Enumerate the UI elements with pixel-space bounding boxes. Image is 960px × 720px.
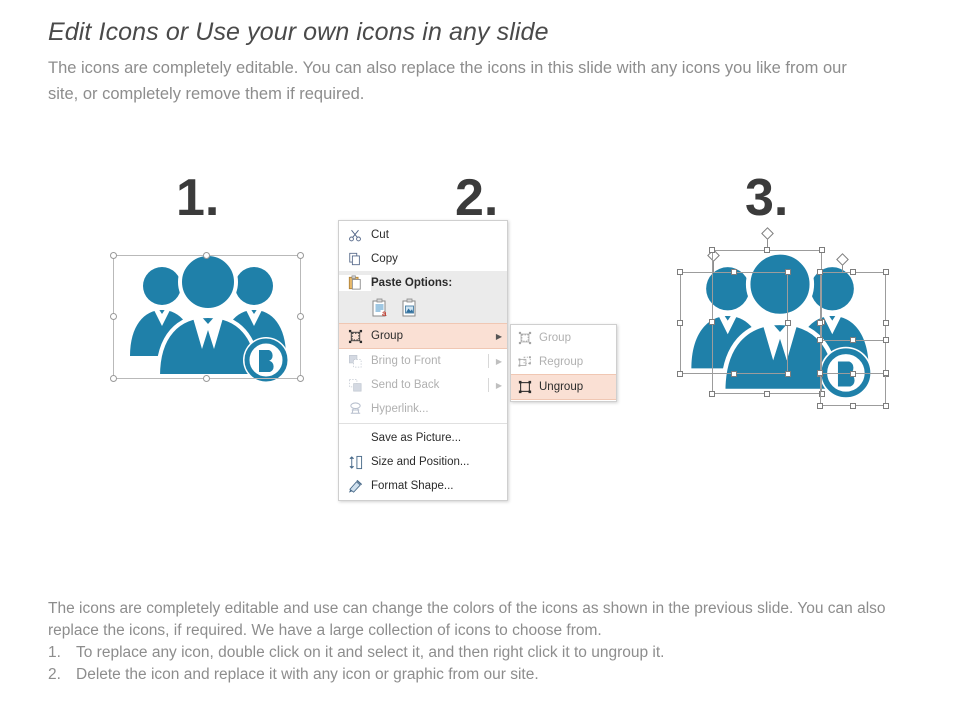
- sub-handle[interactable]: [819, 247, 825, 253]
- footer-list-number: 2.: [48, 664, 76, 686]
- sub-handle[interactable]: [764, 391, 770, 397]
- group-icon: [339, 329, 371, 344]
- submenu-item-label: Regroup: [539, 356, 616, 368]
- sub-handle[interactable]: [817, 337, 823, 343]
- menu-item-format-shape[interactable]: Format Shape...: [339, 474, 507, 498]
- sub-handle[interactable]: [709, 391, 715, 397]
- ungroup-icon: [511, 380, 539, 394]
- sub-handle[interactable]: [785, 320, 791, 326]
- sub-handle[interactable]: [709, 247, 715, 253]
- submenu-item-label: Ungroup: [539, 381, 616, 393]
- sub-handle[interactable]: [883, 403, 889, 409]
- menu-item-label: Cut: [371, 229, 507, 241]
- size-position-icon: [339, 455, 371, 470]
- menu-item-label: Format Shape...: [371, 480, 507, 492]
- selection-handle-nw[interactable]: [110, 252, 117, 259]
- svg-text:a: a: [382, 309, 387, 318]
- menu-item-label: Size and Position...: [371, 456, 507, 468]
- selection-handle-s[interactable]: [203, 375, 210, 382]
- hyperlink-icon: [339, 402, 371, 417]
- menu-item-label: Copy: [371, 253, 507, 265]
- scissors-icon: [339, 228, 371, 242]
- footer-paragraph: The icons are completely editable and us…: [48, 598, 938, 642]
- copy-icon: [339, 252, 371, 266]
- bring-to-front-icon: [339, 354, 371, 369]
- sub-handle[interactable]: [817, 370, 823, 376]
- sub-handle[interactable]: [817, 403, 823, 409]
- menu-item-label: Bring to Front: [371, 355, 491, 367]
- chevron-right-icon: ▶: [491, 357, 507, 366]
- keep-source-formatting-paste-icon[interactable]: a: [371, 298, 389, 321]
- sub-handle[interactable]: [883, 337, 889, 343]
- page-subtitle: The icons are completely editable. You c…: [48, 55, 878, 107]
- sub-handle[interactable]: [731, 371, 737, 377]
- submenu-item-label: Group: [539, 332, 616, 344]
- sub-handle[interactable]: [764, 247, 770, 253]
- sub-handle[interactable]: [819, 391, 825, 397]
- chevron-right-icon: ▶: [491, 332, 507, 341]
- sub-handle[interactable]: [677, 320, 683, 326]
- sub-handle[interactable]: [883, 269, 889, 275]
- sub-handle[interactable]: [709, 319, 715, 325]
- menu-item-paste-options[interactable]: Paste Options:: [339, 271, 507, 295]
- footer-list-item: 1. To replace any icon, double click on …: [48, 642, 938, 664]
- selection-handle-n[interactable]: [203, 252, 210, 259]
- sub-handle[interactable]: [817, 320, 823, 326]
- menu-item-label: Hyperlink...: [371, 403, 507, 415]
- selection-handle-se[interactable]: [297, 375, 304, 382]
- step-number-3: 3.: [745, 172, 788, 224]
- menu-item-send-to-back[interactable]: Send to Back ▶: [339, 373, 507, 397]
- sub-handle[interactable]: [883, 320, 889, 326]
- footer-list-item: 2. Delete the icon and replace it with a…: [48, 664, 938, 686]
- menu-item-group[interactable]: Group ▶: [339, 323, 507, 349]
- footer-list-number: 1.: [48, 642, 76, 664]
- menu-separator-vertical: [488, 354, 489, 368]
- sub-handle[interactable]: [785, 371, 791, 377]
- menu-item-copy[interactable]: Copy: [339, 247, 507, 271]
- selection-handle-sw[interactable]: [110, 375, 117, 382]
- menu-item-hyperlink[interactable]: Hyperlink...: [339, 397, 507, 421]
- footer-list-text: To replace any icon, double click on it …: [76, 642, 664, 664]
- menu-separator-vertical: [488, 378, 489, 392]
- sub-handle[interactable]: [850, 403, 856, 409]
- submenu-item-regroup[interactable]: Regroup: [511, 350, 616, 374]
- group-submenu[interactable]: Group Regroup Ungroup: [510, 324, 617, 402]
- picture-paste-icon[interactable]: [401, 298, 419, 321]
- menu-item-bring-to-front[interactable]: Bring to Front ▶: [339, 349, 507, 373]
- sub-handle[interactable]: [677, 269, 683, 275]
- chevron-right-icon: ▶: [491, 381, 507, 390]
- paste-icon: [339, 275, 371, 291]
- footer-block: The icons are completely editable and us…: [48, 598, 938, 686]
- submenu-item-group[interactable]: Group: [511, 326, 616, 350]
- sub-handle[interactable]: [785, 269, 791, 275]
- menu-item-size-and-position[interactable]: Size and Position...: [339, 450, 507, 474]
- selection-handle-e[interactable]: [297, 313, 304, 320]
- group-icon: [511, 331, 539, 345]
- footer-list-text: Delete the icon and replace it with any …: [76, 664, 539, 686]
- menu-item-cut[interactable]: Cut: [339, 223, 507, 247]
- team-people-icon-1[interactable]: [120, 252, 296, 387]
- page-title: Edit Icons or Use your own icons in any …: [48, 18, 549, 47]
- menu-item-label: Save as Picture...: [371, 432, 507, 444]
- footer-list: 1. To replace any icon, double click on …: [48, 642, 938, 686]
- sub-handle[interactable]: [883, 370, 889, 376]
- sub-handle[interactable]: [731, 269, 737, 275]
- step-number-2: 2.: [455, 172, 498, 224]
- step-number-1: 1.: [176, 172, 219, 224]
- sub-handle[interactable]: [850, 269, 856, 275]
- menu-item-label: Group: [371, 330, 491, 342]
- format-shape-icon: [339, 479, 371, 494]
- sub-handle[interactable]: [850, 337, 856, 343]
- sub-handle[interactable]: [817, 269, 823, 275]
- menu-item-label: Paste Options:: [371, 277, 507, 289]
- rotation-handle-center-person[interactable]: [761, 227, 774, 240]
- paste-options-buttons[interactable]: a: [339, 295, 507, 323]
- submenu-item-ungroup[interactable]: Ungroup: [511, 374, 616, 400]
- sub-handle[interactable]: [850, 371, 856, 377]
- menu-item-label: Send to Back: [371, 379, 491, 391]
- menu-divider: [339, 423, 507, 424]
- selection-handle-ne[interactable]: [297, 252, 304, 259]
- menu-item-save-as-picture[interactable]: Save as Picture...: [339, 426, 507, 450]
- regroup-icon: [511, 355, 539, 369]
- send-to-back-icon: [339, 378, 371, 393]
- selection-handle-w[interactable]: [110, 313, 117, 320]
- sub-handle[interactable]: [677, 371, 683, 377]
- context-menu[interactable]: Cut Copy Paste Options: a Group ▶ Bring …: [338, 220, 508, 501]
